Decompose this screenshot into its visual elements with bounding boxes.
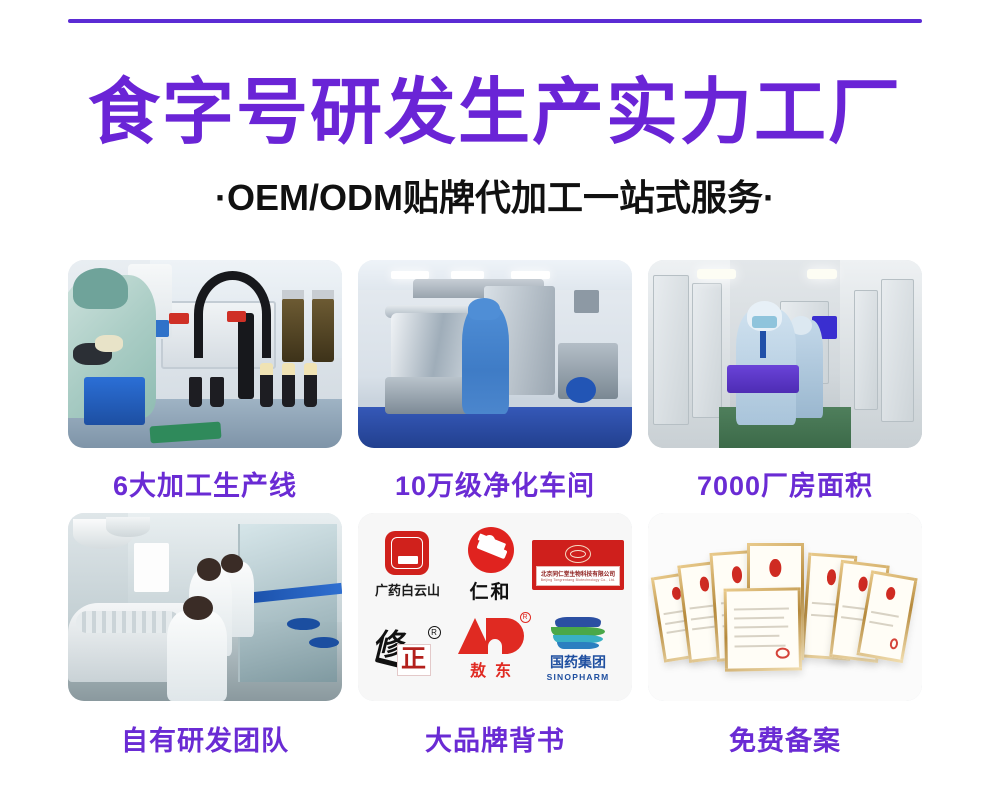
feature-card-grid: 6大加工生产线	[68, 260, 922, 758]
photo-lab	[68, 513, 342, 701]
poster-root: 食字号研发生产实力工厂 ·OEM/ODM贴牌代加工一站式服务·	[0, 0, 990, 790]
logo-label: 国药集团	[550, 652, 606, 672]
logo-label: 仁和	[469, 577, 511, 604]
card-caption: 10万级净化车间	[358, 464, 632, 503]
logo-label-en: SINOPHARM	[547, 672, 610, 682]
logo-tongrentang: 北京同仁堂生物科技有限公司 Beijing Tongrentang Biotec…	[532, 540, 624, 590]
page-title: 食字号研发生产实力工厂	[0, 74, 990, 152]
feature-card-rd-team[interactable]: 自有研发团队	[68, 513, 342, 758]
aodong-mark-icon: R 敖东	[458, 618, 524, 681]
baiyunshan-mark-icon	[385, 531, 429, 575]
card-caption: 自有研发团队	[68, 719, 342, 758]
top-divider-rule	[68, 19, 922, 23]
photo-clean-room	[358, 260, 632, 448]
xiuzheng-mark-icon: 修 R 正	[371, 620, 445, 678]
sinopharm-mark-icon: 国药集团 SINOPHARM	[547, 617, 610, 682]
logo-label: 正	[397, 644, 431, 676]
scene-certificates	[648, 513, 922, 701]
scene-corridor	[648, 260, 922, 448]
feature-card-production-lines[interactable]: 6大加工生产线	[68, 260, 342, 503]
card-caption: 免费备案	[648, 719, 922, 758]
renhe-mark-icon	[468, 527, 514, 573]
feature-card-clean-workshop[interactable]: 10万级净化车间	[358, 260, 632, 503]
logo-label: 敖东	[461, 657, 520, 681]
logo-label-en: Beijing Tongrentang Biotechnology Co., L…	[541, 578, 616, 582]
photo-corridor	[648, 260, 922, 448]
logo-xiuzheng: 修 R 正	[371, 620, 445, 678]
photo-certificates	[648, 513, 922, 701]
photo-production-line	[68, 260, 342, 448]
page-subtitle: ·OEM/ODM贴牌代加工一站式服务·	[0, 176, 990, 220]
scene-clean-room	[358, 260, 632, 448]
scene-lab	[68, 513, 342, 701]
brand-logo-panel: 广药白云山 仁和 北京同仁堂生物科技有限公司 Beijing Tongrenta…	[358, 513, 632, 701]
feature-card-factory-area[interactable]: 7000厂房面积	[648, 260, 922, 503]
card-caption: 6大加工生产线	[68, 464, 342, 503]
logo-grid: 广药白云山 仁和 北京同仁堂生物科技有限公司 Beijing Tongrenta…	[358, 513, 632, 701]
card-caption: 大品牌背书	[358, 719, 632, 758]
tongrentang-banner-icon: 北京同仁堂生物科技有限公司 Beijing Tongrentang Biotec…	[532, 540, 624, 590]
feature-card-brand-endorsement[interactable]: 广药白云山 仁和 北京同仁堂生物科技有限公司 Beijing Tongrenta…	[358, 513, 632, 758]
logo-label: 广药白云山	[375, 580, 440, 599]
card-caption: 7000厂房面积	[648, 464, 922, 503]
logo-label: 北京同仁堂生物科技有限公司	[541, 569, 615, 578]
scene-filling-line	[68, 260, 342, 448]
logo-guangyao-baiyunshan: 广药白云山	[375, 531, 440, 599]
logo-renhe: 仁和	[468, 527, 514, 604]
logo-sinopharm: 国药集团 SINOPHARM	[547, 617, 610, 682]
feature-card-free-filing[interactable]: 免费备案	[648, 513, 922, 758]
logo-aodong: R 敖东	[458, 618, 524, 681]
